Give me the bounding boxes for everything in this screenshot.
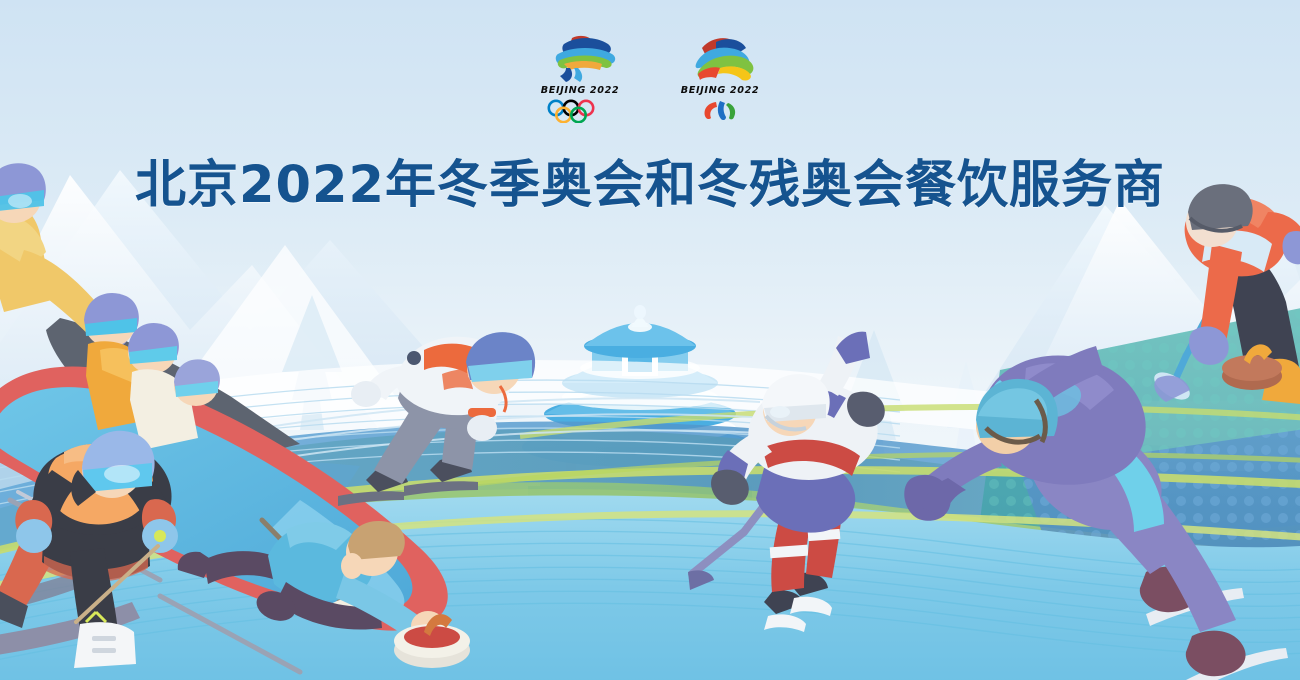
olympic-banner: BEIJING 2022 [0, 0, 1300, 680]
olympic-rings [527, 98, 633, 124]
bobsleigh-team [0, 163, 780, 672]
page-title: 北京2022年冬季奥会和冬残奥会餐饮服务商 [0, 143, 1300, 217]
olympic-logo: BEIJING 2022 [527, 30, 633, 124]
paralympic-logo: BEIJING 2022 [667, 30, 773, 124]
olympic-wordmark: BEIJING 2022 [526, 85, 634, 96]
short-track-skater [338, 332, 535, 506]
ice-hockey-player [688, 332, 885, 632]
speed-skater [904, 346, 1288, 680]
logo-row: BEIJING 2022 [0, 30, 1300, 124]
beijing-2022-paralympic-emblem [667, 30, 773, 82]
paralympic-agitos [667, 98, 773, 124]
curler-sweeping [1150, 184, 1300, 405]
beijing-2022-olympic-emblem [527, 30, 633, 82]
paralympic-wordmark: BEIJING 2022 [666, 85, 774, 96]
